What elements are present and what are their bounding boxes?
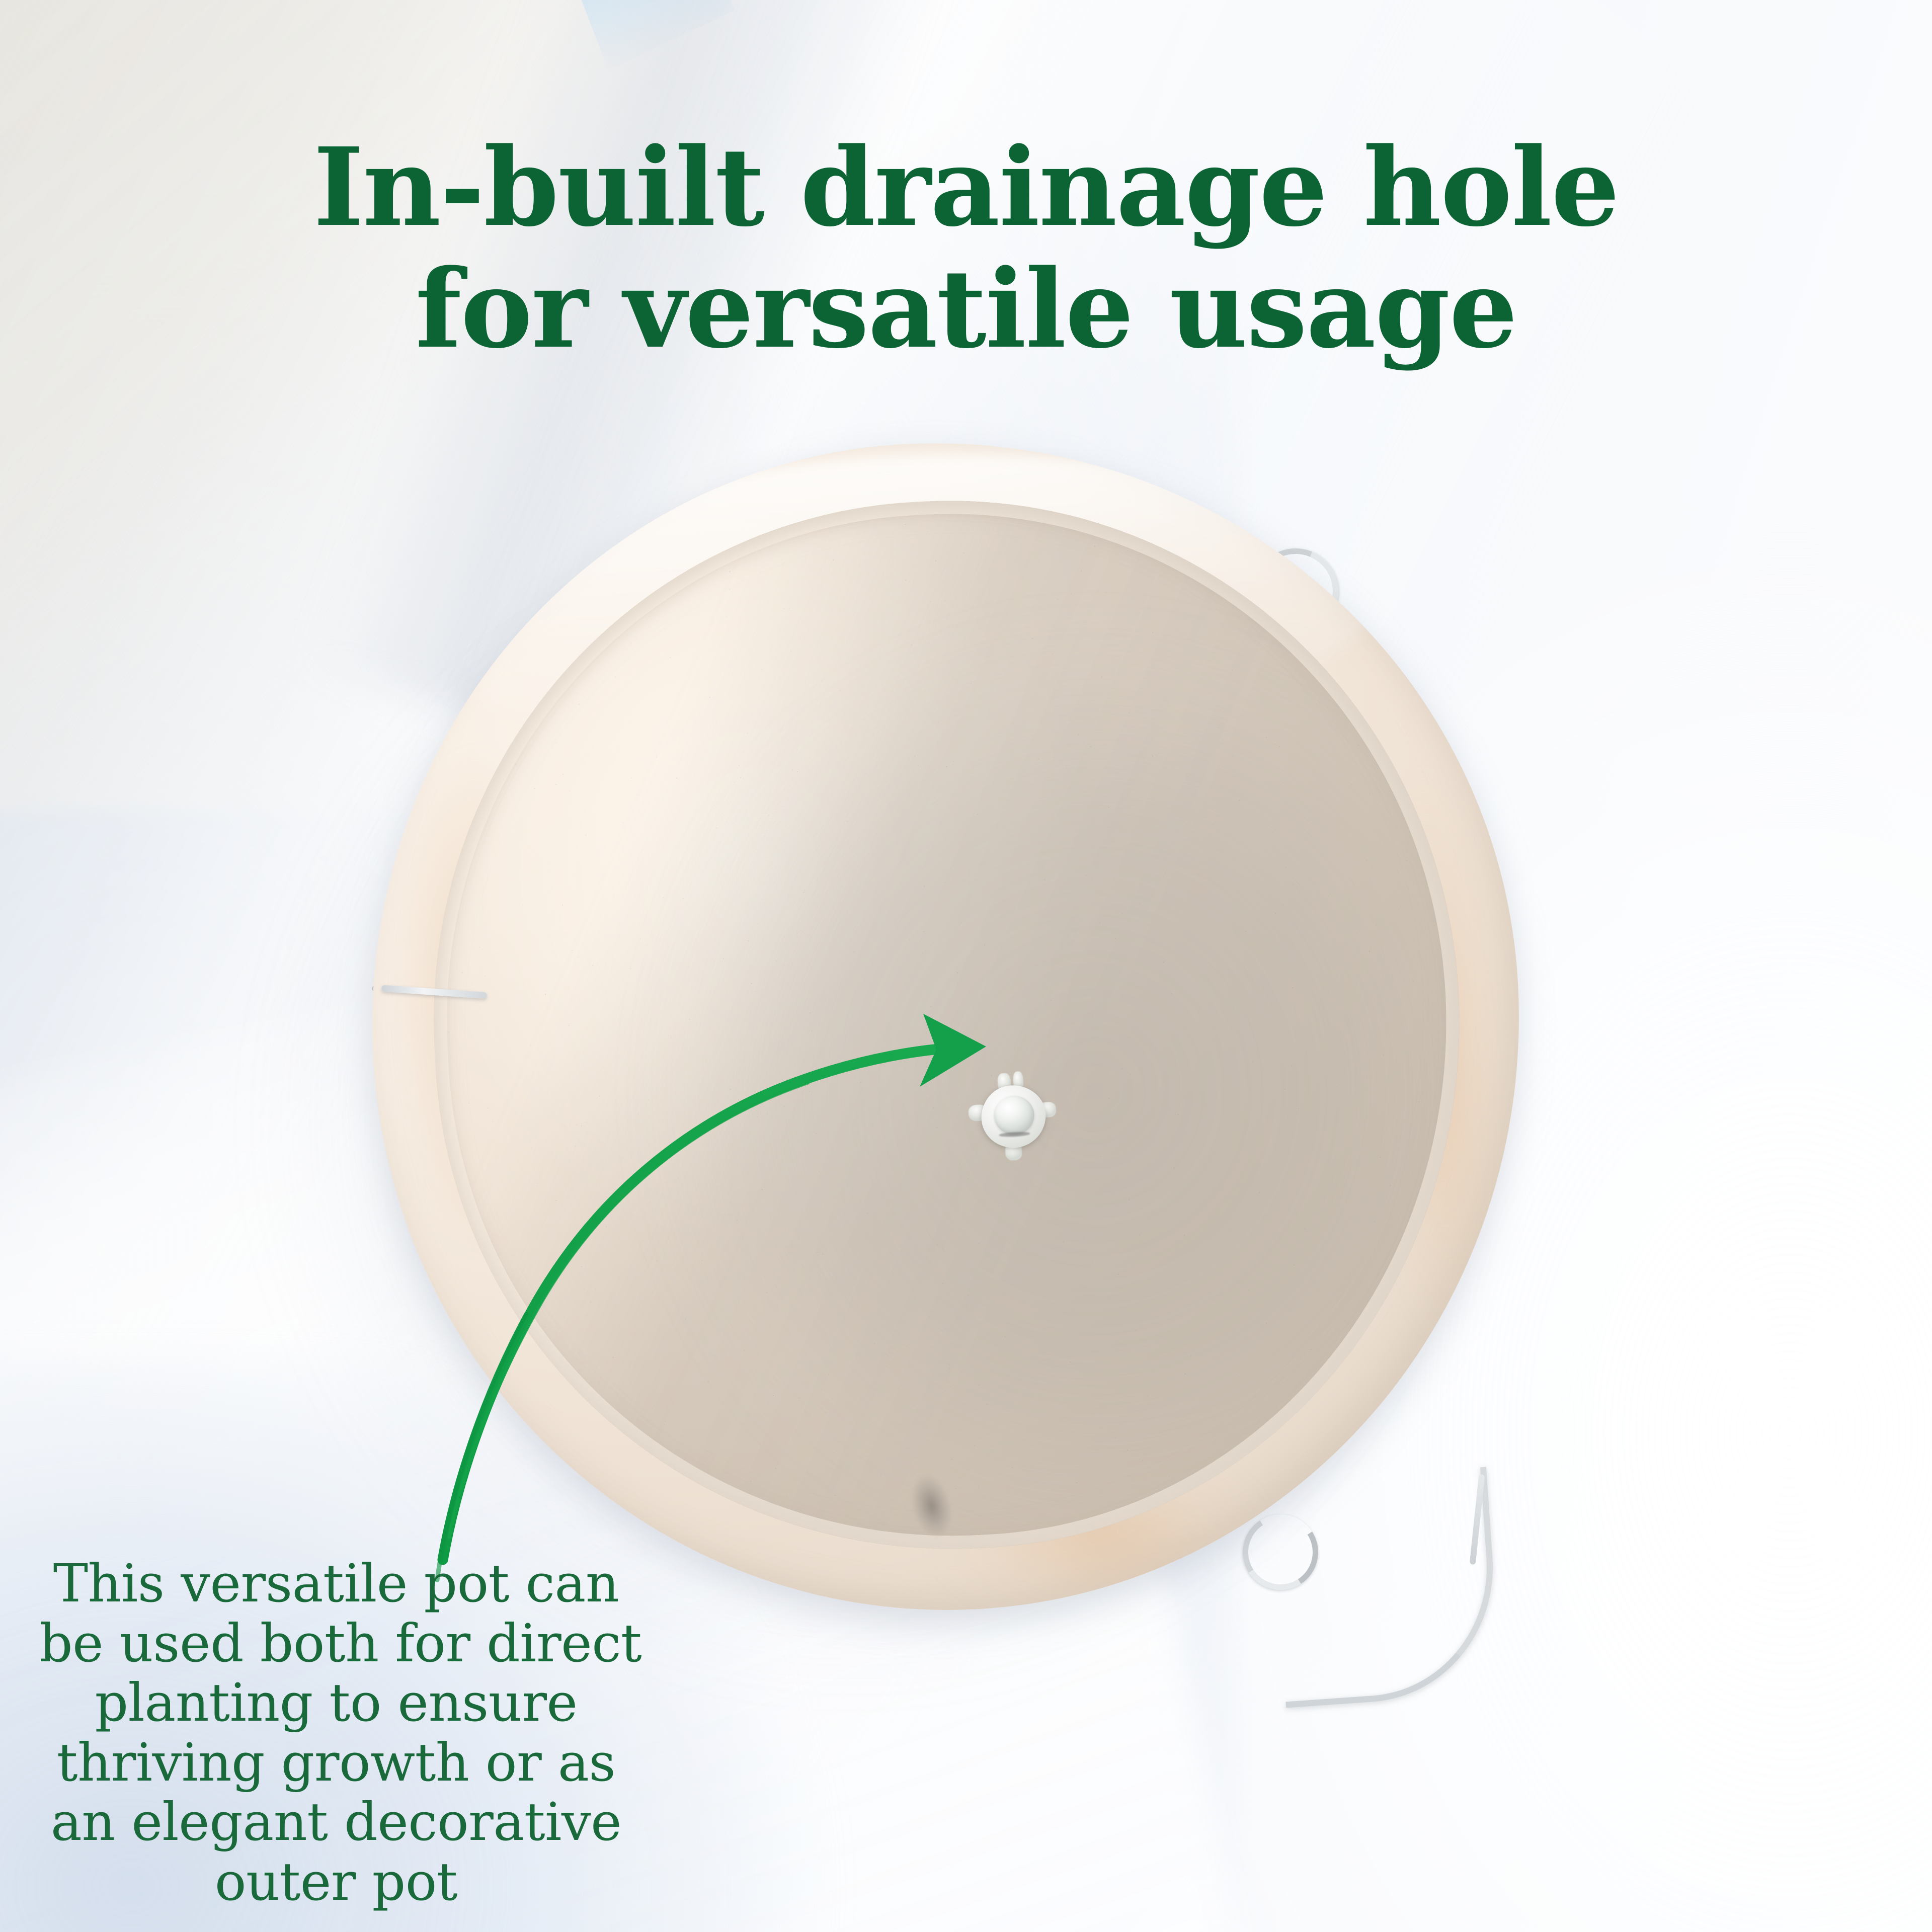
caption-line-5: an elegant decorative [39, 1792, 633, 1852]
caption-line-6: outer pot [39, 1852, 633, 1912]
product-feature-graphic: In-built drainage hole for versatile usa… [0, 0, 1932, 1932]
headline-line-1: In-built drainage hole [313, 124, 1619, 251]
caption-line-2: be used both for direct [39, 1614, 633, 1673]
caption-line-3: planting to ensure [39, 1673, 633, 1733]
pot-interior [408, 475, 1487, 1575]
plant-pot [343, 414, 1549, 1639]
caption-line-1: This versatile pot can [39, 1554, 633, 1614]
drainage-hole[interactable] [980, 1084, 1048, 1150]
caption-line-4: thriving growth or as [39, 1733, 633, 1793]
headline: In-built drainage hole for versatile usa… [0, 127, 1932, 370]
feature-caption: This versatile pot can be used both for … [39, 1554, 633, 1911]
headline-line-2: for versatile usage [0, 249, 1932, 370]
pot-rim [343, 414, 1549, 1639]
